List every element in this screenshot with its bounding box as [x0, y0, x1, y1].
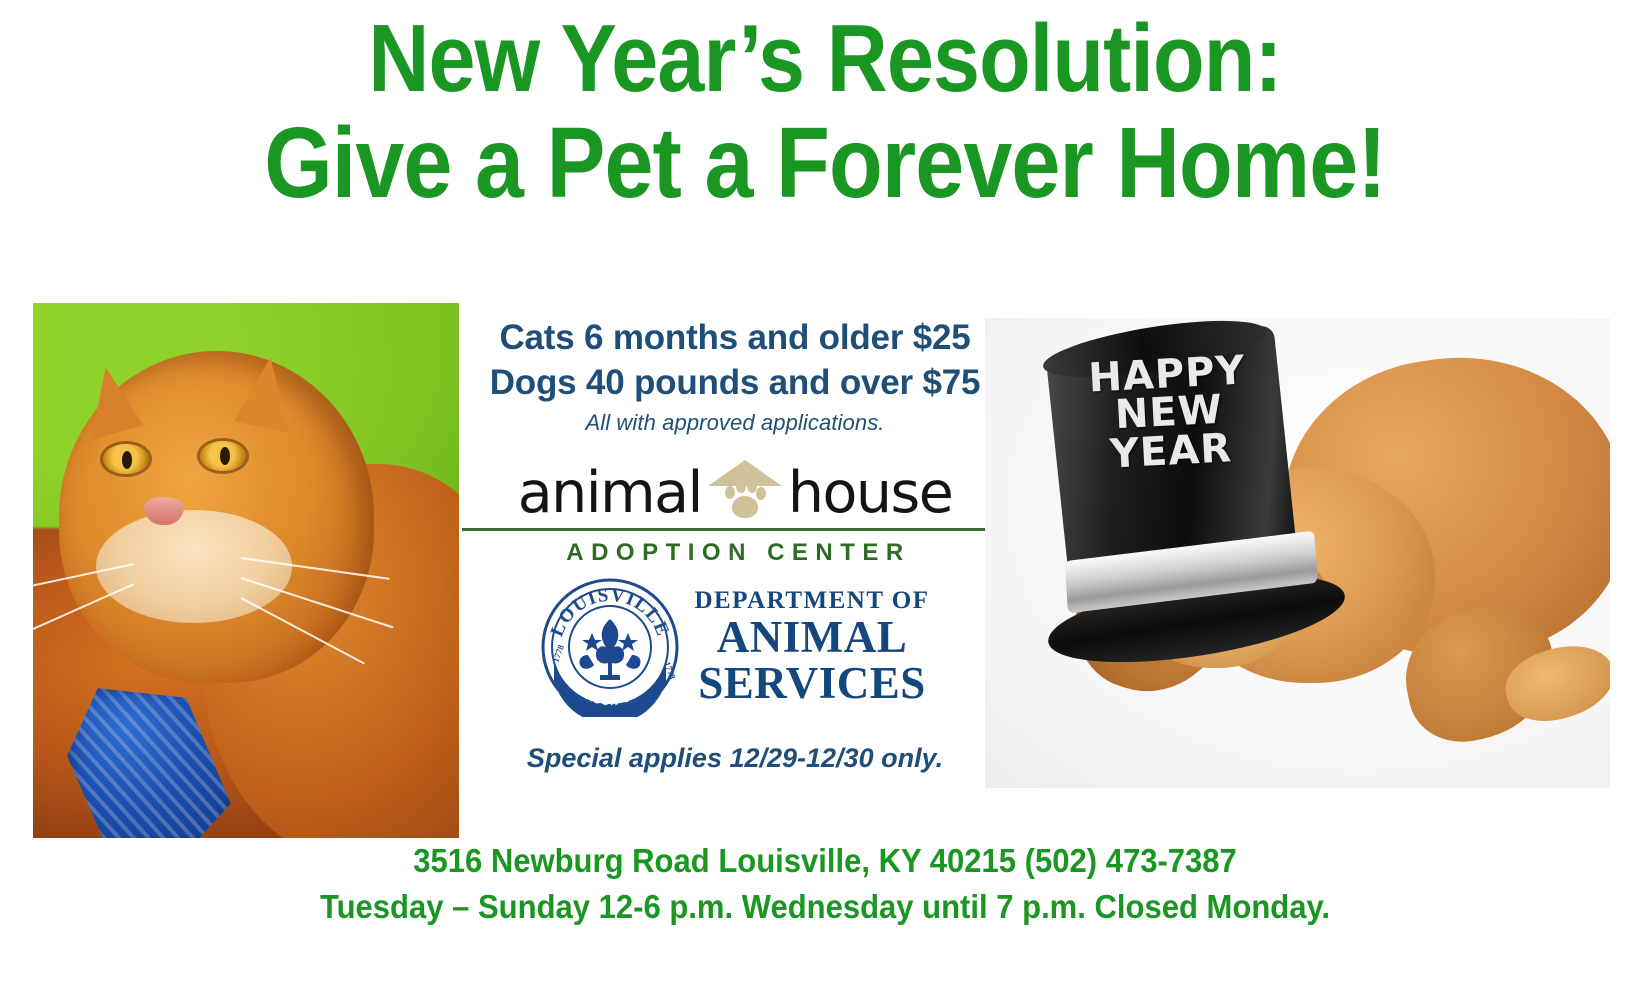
headline-line-1: New Year’s Resolution:: [99, 8, 1551, 110]
hours-line: Tuesday – Sunday 12-6 p.m. Wednesday unt…: [50, 884, 1601, 930]
cat-pupil-left: [122, 451, 132, 469]
hat-text: HAPPY NEW YEAR: [1071, 351, 1267, 476]
cat-ear-right: [235, 353, 304, 433]
offer-column: Cats 6 months and older $25 Dogs 40 poun…: [462, 316, 1008, 774]
logo-divider-rule: [462, 528, 1008, 531]
dog-price-line: Dogs 40 pounds and over $75: [462, 361, 1008, 406]
department-row: LOUISVILLE 1778 1778 JEFFERSON C: [462, 577, 1008, 717]
application-fineprint: All with approved applications.: [462, 410, 1008, 436]
special-dates-note: Special applies 12/29-12/30 only.: [462, 743, 1008, 774]
paw-print-shape: [725, 480, 765, 518]
wordmark-animal: animal: [518, 465, 702, 522]
page-title: New Year’s Resolution: Give a Pet a Fore…: [99, 8, 1551, 216]
department-of-line: DEPARTMENT OF: [694, 587, 929, 615]
animal-house-logo: animal house ADOPTION CENTER: [462, 460, 1008, 717]
department-of-animal-services: DEPARTMENT OF ANIMAL SERVICES: [694, 587, 929, 707]
paw-toe: [725, 486, 735, 499]
paw-toe: [756, 487, 766, 500]
cat-price-line: Cats 6 months and older $25: [462, 316, 1008, 361]
paw-toe: [736, 480, 746, 493]
paw-house-icon: [708, 460, 782, 520]
louisville-jefferson-county-seal: LOUISVILLE 1778 1778 JEFFERSON C: [540, 577, 680, 717]
animal-house-wordmark: animal house: [462, 460, 1008, 522]
paw-pad: [732, 496, 758, 518]
services-line: SERVICES: [694, 661, 929, 707]
new-year-top-hat: HAPPY NEW YEAR: [1011, 318, 1359, 681]
adoption-center-tagline: ADOPTION CENTER: [462, 539, 1008, 567]
cat-head: [59, 351, 374, 683]
cat-pupil-right: [220, 447, 230, 465]
flyer-canvas: New Year’s Resolution: Give a Pet a Fore…: [0, 0, 1650, 986]
headline-line-2: Give a Pet a Forever Home!: [99, 110, 1551, 216]
address-line: 3516 Newburg Road Louisville, KY 40215 (…: [50, 838, 1601, 884]
golden-puppy-with-new-year-hat: HAPPY NEW YEAR: [985, 318, 1610, 788]
cat-eye-left: [103, 444, 149, 474]
animal-line: ANIMAL: [694, 615, 929, 661]
orange-tabby-cat-with-blue-tie: [33, 303, 459, 838]
cat-eye-right: [200, 441, 246, 471]
wordmark-house: house: [788, 465, 952, 522]
footer-contact-block: 3516 Newburg Road Louisville, KY 40215 (…: [50, 838, 1601, 929]
